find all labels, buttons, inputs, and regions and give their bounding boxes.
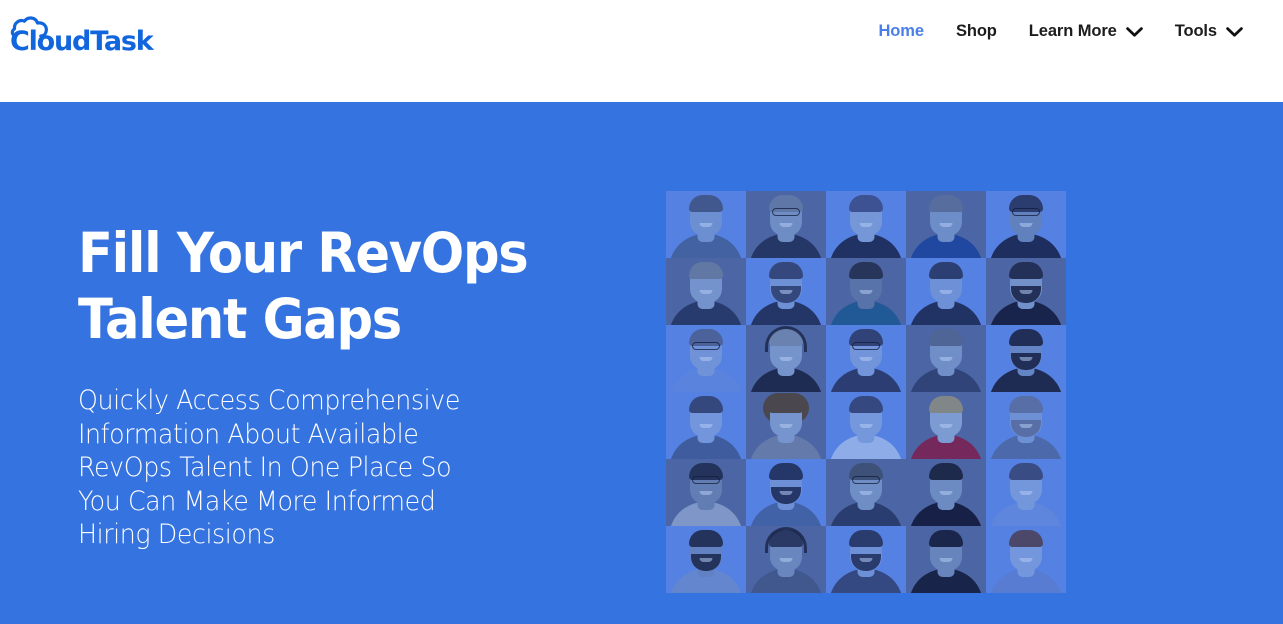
portrait-figure <box>906 258 986 325</box>
portrait-figure <box>666 258 746 325</box>
portrait-hair-top <box>929 329 963 346</box>
portrait-smile <box>1020 558 1033 562</box>
portrait-smile <box>1020 491 1033 495</box>
portrait-smile <box>780 290 793 294</box>
portrait-smile <box>860 357 873 361</box>
portrait-hair-top <box>929 262 963 279</box>
portrait-hair-top <box>1009 530 1043 547</box>
portrait-figure <box>906 459 986 526</box>
portrait-figure <box>666 392 746 459</box>
portrait-hair-top <box>849 262 883 279</box>
talent-photo-cell <box>826 325 906 392</box>
portrait-hair-top <box>1009 329 1043 346</box>
portrait-hair-top <box>849 396 883 413</box>
glasses-icon <box>852 342 880 350</box>
talent-photo-cell <box>666 392 746 459</box>
portrait-smile <box>780 424 793 428</box>
talent-photo-cell <box>986 191 1066 258</box>
portrait-hair-top <box>849 530 883 547</box>
portrait-figure <box>826 392 906 459</box>
portrait-smile <box>700 357 713 361</box>
nav-item-home[interactable]: Home <box>862 18 939 45</box>
portrait-smile <box>780 223 793 227</box>
portrait-hair-top <box>689 195 723 212</box>
portrait-figure <box>986 392 1066 459</box>
talent-photo-cell <box>826 191 906 258</box>
talent-photo-cell <box>986 459 1066 526</box>
talent-photo-cell <box>746 191 826 258</box>
chevron-down-icon <box>1226 27 1243 37</box>
portrait-figure <box>986 258 1066 325</box>
talent-photo-cell <box>746 325 826 392</box>
cloudtask-logo[interactable]: CloudTask CloudTask <box>10 13 160 57</box>
portrait-figure <box>746 258 826 325</box>
talent-photo-cell <box>746 526 826 593</box>
nav-item-learn-more[interactable]: Learn More <box>1013 18 1159 45</box>
portrait-hair-top <box>689 396 723 413</box>
svg-text:CloudTask: CloudTask <box>10 26 155 55</box>
nav-item-shop[interactable]: Shop <box>940 18 1013 45</box>
portrait-figure <box>906 325 986 392</box>
talent-photo-cell <box>826 526 906 593</box>
portrait-smile <box>940 357 953 361</box>
glasses-icon <box>692 476 720 484</box>
portrait-smile <box>1020 290 1033 294</box>
portrait-figure <box>906 191 986 258</box>
portrait-smile <box>860 558 873 562</box>
portrait-figure <box>986 191 1066 258</box>
talent-photo-cell <box>986 392 1066 459</box>
page-root: CloudTask CloudTask Home Shop Learn More <box>0 0 1283 624</box>
nav-item-tools[interactable]: Tools <box>1159 18 1259 45</box>
glasses-icon <box>1012 208 1040 216</box>
talent-photo-cell <box>906 258 986 325</box>
hero-section: Fill Your RevOps Talent Gaps Quickly Acc… <box>0 102 1283 624</box>
portrait-smile <box>860 424 873 428</box>
talent-photo-cell <box>826 459 906 526</box>
portrait-figure <box>986 526 1066 593</box>
portrait-hair-top <box>849 195 883 212</box>
portrait-smile <box>940 290 953 294</box>
talent-photo-cell <box>906 191 986 258</box>
portrait-hair-top <box>769 396 803 413</box>
portrait-smile <box>700 223 713 227</box>
portrait-smile <box>860 290 873 294</box>
talent-photo-cell <box>746 392 826 459</box>
photo-grid-inner <box>666 191 1066 593</box>
portrait-smile <box>1020 424 1033 428</box>
talent-photo-grid <box>666 191 1066 593</box>
glasses-icon <box>692 342 720 350</box>
portrait-hair-top <box>769 463 803 480</box>
headset-icon <box>765 527 807 553</box>
talent-photo-cell <box>826 392 906 459</box>
portrait-smile <box>780 558 793 562</box>
portrait-hair-top <box>1009 262 1043 279</box>
talent-photo-cell <box>826 258 906 325</box>
portrait-smile <box>700 290 713 294</box>
portrait-smile <box>780 357 793 361</box>
nav-item-learn-more-label: Learn More <box>1029 22 1117 41</box>
hero-subtitle: Quickly Access Comprehensive Information… <box>78 384 575 552</box>
hero-title: Fill Your RevOps Talent Gaps <box>78 220 562 352</box>
glasses-icon <box>852 476 880 484</box>
portrait-figure <box>666 325 746 392</box>
talent-photo-cell <box>906 392 986 459</box>
portrait-figure <box>746 459 826 526</box>
portrait-figure <box>746 526 826 593</box>
talent-photo-cell <box>906 459 986 526</box>
portrait-smile <box>780 491 793 495</box>
portrait-smile <box>1020 223 1033 227</box>
hero-copy: Fill Your RevOps Talent Gaps Quickly Acc… <box>78 220 598 552</box>
portrait-smile <box>860 223 873 227</box>
headset-icon <box>765 326 807 352</box>
portrait-figure <box>666 526 746 593</box>
portrait-hair-top <box>1009 463 1043 480</box>
portrait-hair-top <box>769 262 803 279</box>
cloudtask-logo-icon: CloudTask <box>10 15 160 55</box>
nav-item-tools-label: Tools <box>1175 22 1217 41</box>
portrait-figure <box>666 191 746 258</box>
portrait-smile <box>940 491 953 495</box>
portrait-smile <box>860 491 873 495</box>
portrait-figure <box>746 191 826 258</box>
portrait-smile <box>940 558 953 562</box>
talent-photo-cell <box>906 325 986 392</box>
portrait-figure <box>826 325 906 392</box>
nav-item-home-label: Home <box>878 22 923 41</box>
talent-photo-cell <box>666 258 746 325</box>
portrait-figure <box>826 526 906 593</box>
portrait-figure <box>906 392 986 459</box>
portrait-smile <box>1020 357 1033 361</box>
portrait-figure <box>986 459 1066 526</box>
portrait-hair-top <box>1009 396 1043 413</box>
portrait-hair-top <box>929 396 963 413</box>
talent-photo-cell <box>906 526 986 593</box>
portrait-figure <box>906 526 986 593</box>
portrait-smile <box>940 424 953 428</box>
portrait-hair-top <box>689 262 723 279</box>
chevron-down-icon <box>1126 27 1143 37</box>
portrait-smile <box>700 558 713 562</box>
portrait-hair-top <box>929 530 963 547</box>
talent-photo-cell <box>666 526 746 593</box>
main-navigation: Home Shop Learn More Tools <box>862 18 1259 45</box>
glasses-icon <box>772 208 800 216</box>
talent-photo-cell <box>666 459 746 526</box>
portrait-smile <box>700 424 713 428</box>
nav-item-shop-label: Shop <box>956 22 997 41</box>
site-header: CloudTask CloudTask Home Shop Learn More <box>0 0 1283 102</box>
portrait-hair-top <box>929 463 963 480</box>
portrait-figure <box>826 191 906 258</box>
portrait-figure <box>826 459 906 526</box>
talent-photo-cell <box>666 325 746 392</box>
portrait-figure <box>986 325 1066 392</box>
portrait-smile <box>700 491 713 495</box>
portrait-figure <box>746 325 826 392</box>
talent-photo-cell <box>986 325 1066 392</box>
portrait-hair-top <box>929 195 963 212</box>
talent-photo-cell <box>986 526 1066 593</box>
talent-photo-cell <box>746 459 826 526</box>
talent-photo-cell <box>666 191 746 258</box>
talent-photo-cell <box>746 258 826 325</box>
portrait-figure <box>746 392 826 459</box>
portrait-hair-top <box>689 530 723 547</box>
talent-photo-cell <box>986 258 1066 325</box>
portrait-figure <box>826 258 906 325</box>
portrait-figure <box>666 459 746 526</box>
portrait-smile <box>940 223 953 227</box>
